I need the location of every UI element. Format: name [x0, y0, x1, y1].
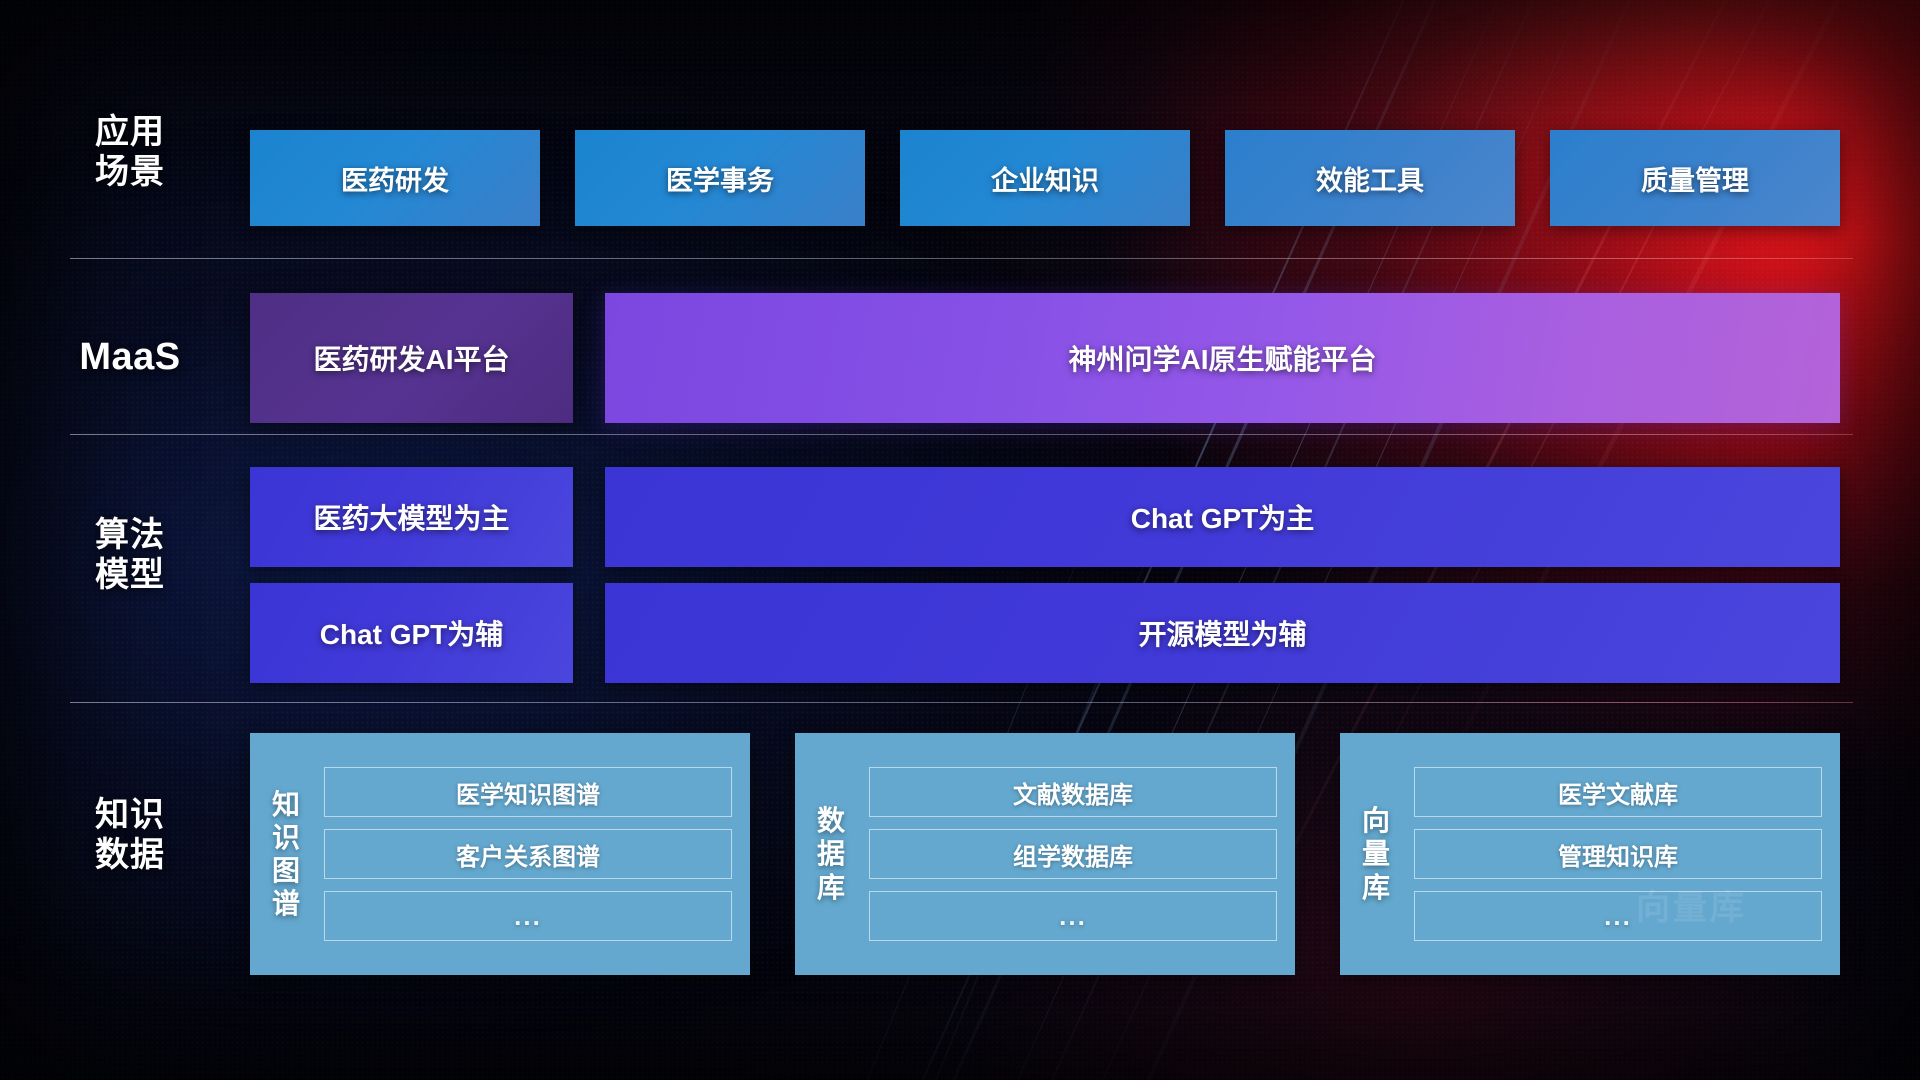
maas-box-pharma-ai-platform-label: 医药研发AI平台 [313, 338, 509, 378]
knowledge-item-medical-literature-library[interactable]: 医学文献库 [1414, 767, 1822, 817]
app-box-efficiency-tools[interactable]: 效能工具 [1225, 130, 1515, 226]
app-box-medical-affairs-label: 医学事务 [666, 159, 774, 198]
knowledge-item-graph-more[interactable]: ... [324, 891, 732, 941]
algo-box-pharma-llm-primary[interactable]: 医药大模型为主 [250, 467, 573, 567]
knowledge-group-database-title: 数 据 库 [795, 804, 869, 903]
divider-application-maas [70, 258, 1853, 259]
app-box-pharma-rd[interactable]: 医药研发 [250, 130, 540, 226]
knowledge-group-graph-title-char-1: 识 [250, 821, 324, 854]
row-label-application: 应用 场景 [70, 112, 190, 192]
knowledge-group-graph-title-char-2: 图 [250, 854, 324, 887]
knowledge-group-vector-title: 向 量 库 [1340, 804, 1414, 903]
architecture-diagram: 应用 场景 医药研发 医学事务 企业知识 效能工具 质量管理 MaaS 医药研发… [0, 0, 1920, 1080]
app-box-pharma-rd-label: 医药研发 [341, 159, 449, 198]
maas-box-shenzhou-platform-label: 神州问学AI原生赋能平台 [1068, 338, 1376, 378]
row-label-knowledge: 知识 数据 [70, 795, 190, 875]
algo-box-chatgpt-secondary[interactable]: Chat GPT为辅 [250, 583, 573, 683]
knowledge-item-management-knowledge-library[interactable]: 管理知识库 [1414, 829, 1822, 879]
maas-box-shenzhou-platform[interactable]: 神州问学AI原生赋能平台 [605, 293, 1840, 423]
row-label-knowledge-line1: 知识 [70, 795, 190, 835]
knowledge-group-vector-items: 医学文献库 管理知识库 ... [1414, 767, 1826, 941]
knowledge-item-vector-more[interactable]: ... [1414, 891, 1822, 941]
maas-box-pharma-ai-platform[interactable]: 医药研发AI平台 [250, 293, 573, 423]
algo-box-chatgpt-primary[interactable]: Chat GPT为主 [605, 467, 1840, 567]
knowledge-group-vector[interactable]: 向 量 库 医学文献库 管理知识库 ... [1340, 733, 1840, 975]
knowledge-item-database-more[interactable]: ... [869, 891, 1277, 941]
knowledge-item-literature-database[interactable]: 文献数据库 [869, 767, 1277, 817]
app-box-enterprise-knowledge[interactable]: 企业知识 [900, 130, 1190, 226]
knowledge-group-graph[interactable]: 知 识 图 谱 医学知识图谱 客户关系图谱 ... [250, 733, 750, 975]
algo-box-opensource-secondary-label: 开源模型为辅 [1138, 613, 1306, 653]
knowledge-item-omics-database[interactable]: 组学数据库 [869, 829, 1277, 879]
knowledge-group-database-title-char-2: 库 [795, 871, 869, 904]
knowledge-group-database-items: 文献数据库 组学数据库 ... [869, 767, 1281, 941]
diagram-canvas: 应用 场景 医药研发 医学事务 企业知识 效能工具 质量管理 MaaS 医药研发… [0, 0, 1920, 1080]
app-box-quality-management[interactable]: 质量管理 [1550, 130, 1840, 226]
app-box-quality-management-label: 质量管理 [1641, 159, 1749, 198]
row-label-knowledge-line2: 数据 [70, 835, 190, 875]
app-box-efficiency-tools-label: 效能工具 [1316, 159, 1424, 198]
row-label-application-line1: 应用 [70, 112, 190, 152]
algo-box-opensource-secondary[interactable]: 开源模型为辅 [605, 583, 1840, 683]
knowledge-group-graph-items: 医学知识图谱 客户关系图谱 ... [324, 767, 736, 941]
row-label-algorithm-line1: 算法 [70, 515, 190, 555]
knowledge-item-customer-relation-graph[interactable]: 客户关系图谱 [324, 829, 732, 879]
knowledge-group-vector-title-char-2: 库 [1340, 871, 1414, 904]
row-label-algorithm-line2: 模型 [70, 555, 190, 595]
knowledge-item-medical-knowledge-graph[interactable]: 医学知识图谱 [324, 767, 732, 817]
row-label-maas-text: MaaS [70, 335, 190, 380]
knowledge-group-database-title-char-1: 据 [795, 837, 869, 870]
row-label-application-line2: 场景 [70, 152, 190, 192]
knowledge-group-vector-title-char-1: 量 [1340, 837, 1414, 870]
algo-box-chatgpt-primary-label: Chat GPT为主 [1131, 497, 1315, 537]
row-label-algorithm: 算法 模型 [70, 515, 190, 595]
divider-maas-algorithm [70, 434, 1853, 435]
row-label-maas: MaaS [70, 335, 190, 380]
knowledge-group-database[interactable]: 数 据 库 文献数据库 组学数据库 ... [795, 733, 1295, 975]
knowledge-group-graph-title: 知 识 图 谱 [250, 788, 324, 920]
app-box-enterprise-knowledge-label: 企业知识 [991, 159, 1099, 198]
app-box-medical-affairs[interactable]: 医学事务 [575, 130, 865, 226]
algo-box-pharma-llm-primary-label: 医药大模型为主 [313, 497, 509, 537]
knowledge-group-database-title-char-0: 数 [795, 804, 869, 837]
algo-box-chatgpt-secondary-label: Chat GPT为辅 [320, 613, 504, 653]
knowledge-group-graph-title-char-3: 谱 [250, 887, 324, 920]
knowledge-group-graph-title-char-0: 知 [250, 788, 324, 821]
knowledge-group-vector-title-char-0: 向 [1340, 804, 1414, 837]
divider-algorithm-knowledge [70, 702, 1853, 703]
